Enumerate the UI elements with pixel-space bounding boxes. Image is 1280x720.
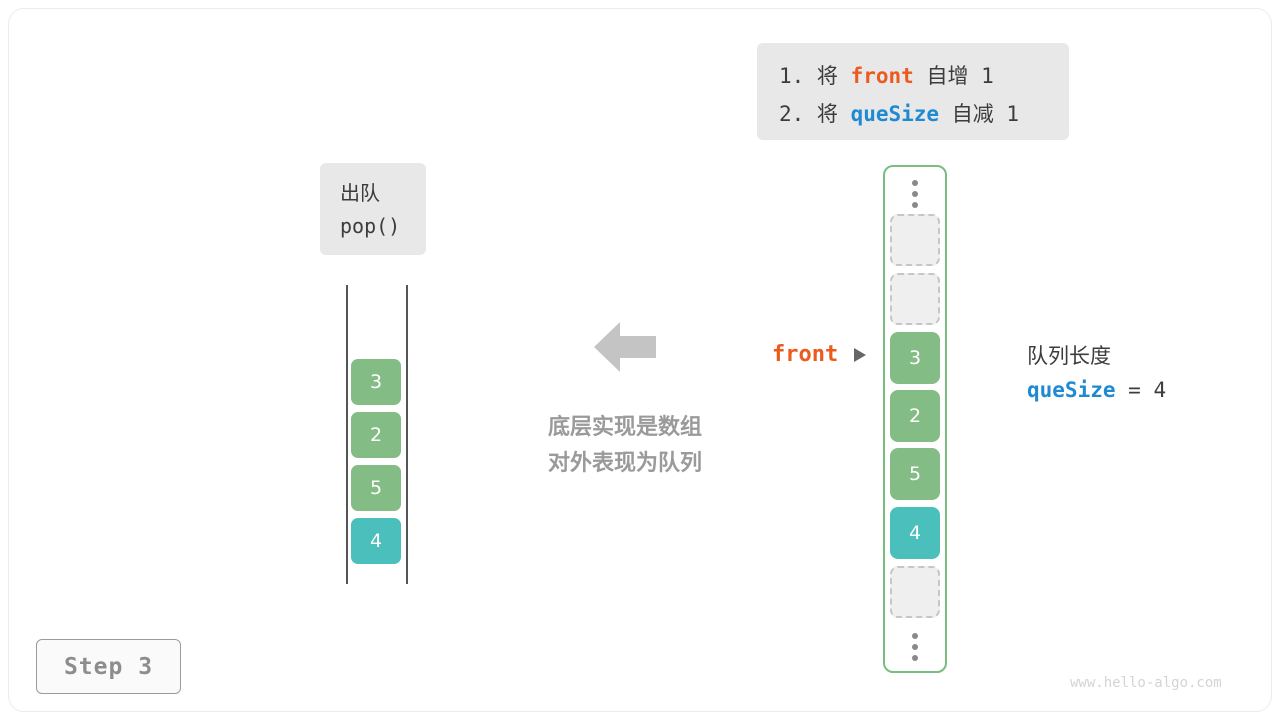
operation-title: 出队 (340, 177, 426, 210)
front-pointer-label: front (772, 342, 838, 367)
note-line-1-prefix: 1. 将 (779, 64, 851, 88)
queue-size-info: 队列长度 queSize = 4 (1027, 340, 1166, 408)
note-line-1: 1. 将 front 自增 1 (779, 57, 1047, 95)
front-pointer-caret-icon (854, 348, 866, 362)
queue-size-equals: = (1116, 378, 1154, 402)
queue-cell: 3 (351, 359, 401, 405)
array-slot: 3 (890, 332, 940, 384)
operation-label-box: 出队 pop() (320, 163, 426, 255)
operation-method: pop() (340, 210, 426, 243)
caption-line-2: 对外表现为队列 (523, 446, 727, 482)
note-line-2-keyword: queSize (851, 102, 940, 126)
array-slot: 4 (890, 507, 940, 559)
watermark: www.hello-algo.com (1070, 675, 1222, 691)
array-slot: 5 (890, 448, 940, 500)
array-slot-empty (890, 273, 940, 325)
queue-rail-right (406, 285, 408, 584)
operation-note-box: 1. 将 front 自增 1 2. 将 queSize 自减 1 (757, 43, 1069, 140)
queue-size-expression: queSize = 4 (1027, 372, 1166, 408)
step-badge: Step 3 (36, 639, 181, 694)
ellipsis-icon (908, 633, 922, 661)
queue-size-title: 队列长度 (1027, 340, 1166, 372)
note-line-1-keyword: front (851, 64, 914, 88)
note-line-1-suffix: 自增 1 (914, 64, 994, 88)
left-arrow-icon (594, 320, 656, 374)
queue-rail-left (346, 285, 348, 584)
array-slot-empty (890, 566, 940, 618)
queue-cell: 2 (351, 412, 401, 458)
array-slot: 2 (890, 390, 940, 442)
note-line-2: 2. 将 queSize 自减 1 (779, 95, 1047, 133)
diagram-canvas: 1. 将 front 自增 1 2. 将 queSize 自减 1 出队 pop… (0, 0, 1280, 720)
queue-cell: 5 (351, 465, 401, 511)
queue-size-value: 4 (1153, 378, 1166, 402)
ellipsis-icon (908, 180, 922, 208)
note-line-2-prefix: 2. 将 (779, 102, 851, 126)
queue-cell: 4 (351, 518, 401, 564)
note-line-2-suffix: 自减 1 (939, 102, 1019, 126)
diagram-caption: 底层实现是数组 对外表现为队列 (523, 410, 727, 482)
array-slot-empty (890, 214, 940, 266)
queue-size-var: queSize (1027, 378, 1116, 402)
caption-line-1: 底层实现是数组 (523, 410, 727, 446)
